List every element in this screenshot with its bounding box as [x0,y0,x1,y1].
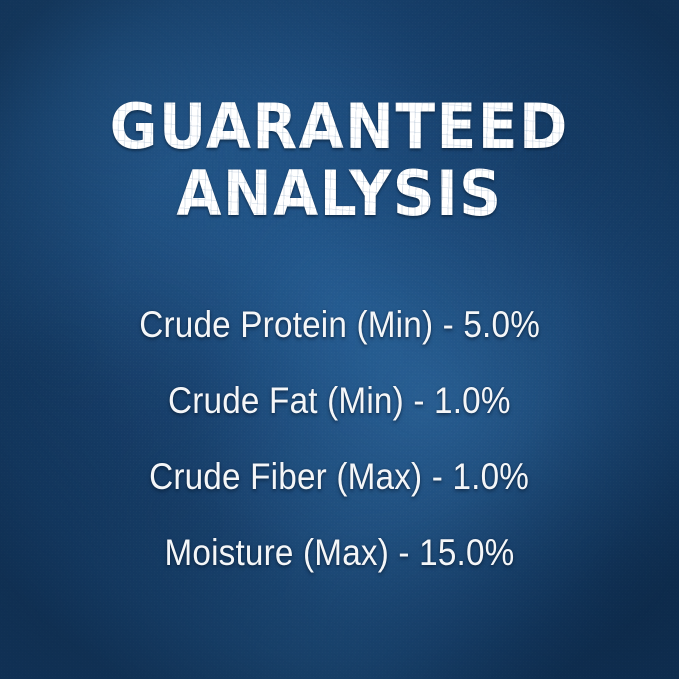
panel-title-line-guaranteed: GUARANTEED [110,96,569,157]
analysis-row-moisture: Moisture (Max) - 15.0% [164,515,514,591]
panel-title: GUARANTEED ANALYSIS [0,96,679,225]
guaranteed-analysis-panel: GUARANTEED ANALYSIS Crude Protein (Min) … [0,0,679,679]
analysis-row-crude-fiber: Crude Fiber (Max) - 1.0% [150,439,530,515]
panel-title-line-analysis: ANALYSIS [176,163,502,224]
analysis-row-crude-protein: Crude Protein (Min) - 5.0% [139,287,540,363]
panel-content: GUARANTEED ANALYSIS Crude Protein (Min) … [0,0,679,679]
analysis-row-crude-fat: Crude Fat (Min) - 1.0% [168,363,511,439]
guaranteed-analysis-list: Crude Protein (Min) - 5.0% Crude Fat (Mi… [0,287,679,591]
